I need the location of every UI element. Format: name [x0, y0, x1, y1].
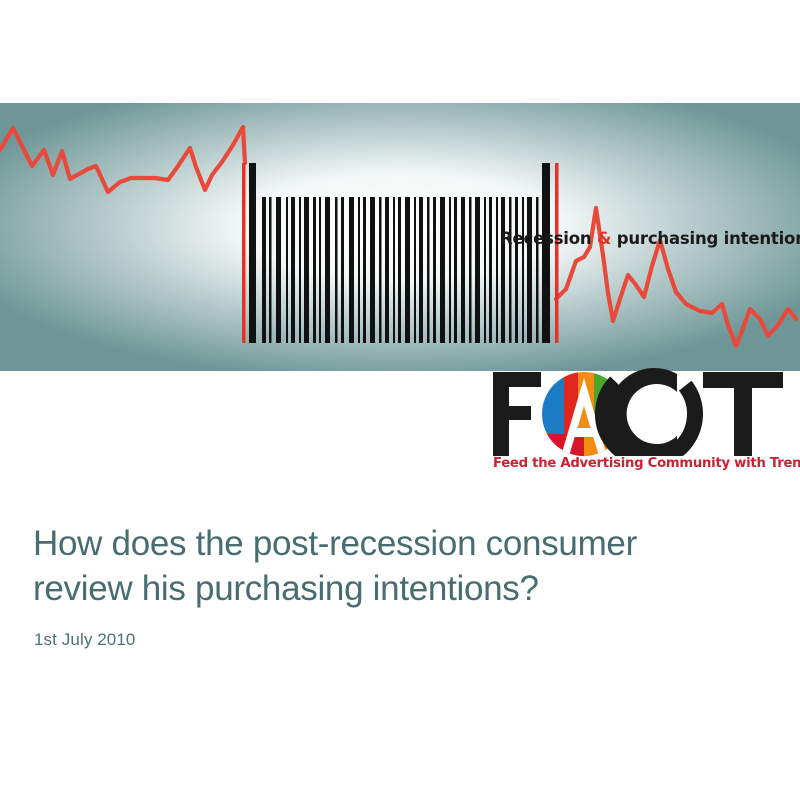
logo-letter-t: [703, 372, 783, 456]
logo-letter-f: [493, 372, 541, 456]
barcode-caption: Recession & purchasing intention: [500, 226, 790, 252]
page-title-line-2: review his purchasing intentions?: [33, 566, 763, 611]
barcode-caption-suffix: purchasing intention: [611, 229, 800, 248]
page-title: How does the post-recession consumer rev…: [33, 521, 763, 611]
barcode-caption-prefix: Recession: [500, 229, 597, 248]
fact-logo: Feed the Advertising Community with Tren…: [489, 368, 789, 480]
barcode-graphic: [242, 163, 560, 343]
barcode-guard-right: [555, 163, 559, 343]
title-slide: Recession & purchasing intention: [0, 0, 800, 800]
barcode-caption-ampersand: &: [597, 229, 611, 248]
hero-banner: Recession & purchasing intention: [0, 103, 800, 371]
fact-wordmark-graphic: [489, 368, 789, 456]
presentation-date: 1st July 2010: [34, 630, 135, 650]
barcode: Recession & purchasing intention: [242, 163, 560, 343]
barcode-guard-left: [242, 163, 246, 343]
page-title-line-1: How does the post-recession consumer: [33, 521, 763, 566]
barcode-bars: [249, 163, 550, 343]
logo-tagline: Feed the Advertising Community with Tren…: [493, 456, 789, 471]
